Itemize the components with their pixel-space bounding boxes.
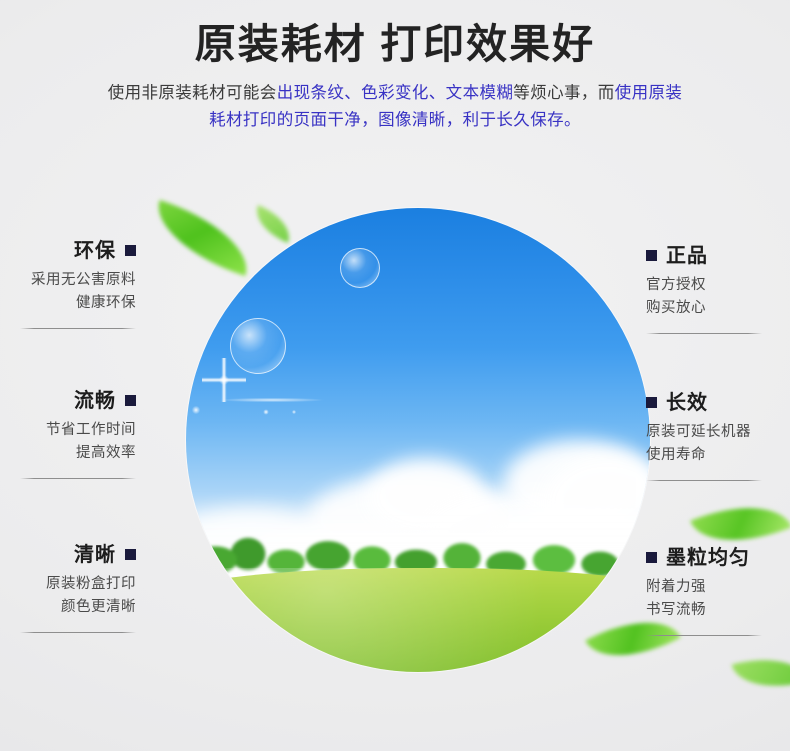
divider (20, 478, 136, 479)
feature-desc-line-1: 原装粉盒打印 (0, 573, 136, 596)
feature-desc-line-2: 使用寿命 (646, 444, 790, 467)
grass-field (186, 568, 650, 672)
feature-desc-line-1: 原装可延长机器 (646, 421, 790, 444)
page-title: 原装耗材 打印效果好 (0, 0, 790, 70)
feature-heading-text: 清晰 (74, 544, 116, 566)
feature-heading: 清晰 (0, 542, 136, 568)
bubble-icon (340, 248, 380, 288)
feature-item-molijunyun: 墨粒均匀 附着力强 书写流畅 (624, 545, 790, 636)
feature-desc-line-1: 节省工作时间 (0, 419, 136, 442)
leaf-icon (732, 647, 790, 700)
feature-desc-line-2: 书写流畅 (646, 599, 790, 622)
feature-item-liuchang: 流畅 节省工作时间 提高效率 (0, 388, 166, 479)
square-bullet-icon (125, 395, 136, 406)
subtitle-line-2: 耗材打印的页面干净，图像清晰，利于长久保存。 (45, 107, 745, 134)
feature-heading: 长效 (646, 390, 790, 416)
divider (646, 480, 762, 481)
feature-heading-text: 墨粒均匀 (666, 547, 750, 569)
feature-heading: 墨粒均匀 (646, 545, 790, 571)
feature-desc-line-2: 颜色更清晰 (0, 596, 136, 619)
feature-desc-line-1: 官方授权 (646, 274, 790, 297)
square-bullet-icon (646, 250, 657, 261)
feature-description: 节省工作时间 提高效率 (0, 414, 136, 465)
divider (646, 333, 762, 334)
feature-description: 原装粉盒打印 颜色更清晰 (0, 568, 136, 619)
feature-item-zhengpin: 正品 官方授权 购买放心 (624, 243, 790, 334)
square-bullet-icon (646, 552, 657, 563)
bubble-icon (230, 318, 286, 374)
feature-description: 官方授权 购买放心 (646, 269, 790, 320)
feature-description: 采用无公害原料 健康环保 (0, 264, 136, 315)
nature-photo-circle (186, 208, 650, 672)
subtitle-segment-plain-2: 等烦心事，而 (513, 84, 614, 102)
feature-heading-text: 正品 (666, 245, 708, 267)
subtitle-segment-highlight-2: 使用原装 (615, 84, 683, 102)
lens-flare (186, 390, 352, 424)
feature-heading-text: 环保 (74, 240, 116, 262)
feature-heading-text: 流畅 (74, 390, 116, 412)
feature-desc-line-1: 附着力强 (646, 576, 790, 599)
feature-heading: 流畅 (0, 388, 136, 414)
divider (646, 635, 762, 636)
feature-heading: 环保 (0, 238, 136, 264)
promo-page: 原装耗材 打印效果好 使用非原装耗材可能会出现条纹、色彩变化、文本模糊等烦心事，… (0, 0, 790, 751)
feature-description: 附着力强 书写流畅 (646, 571, 790, 622)
feature-item-huanbao: 环保 采用无公害原料 健康环保 (0, 238, 166, 329)
header: 原装耗材 打印效果好 使用非原装耗材可能会出现条纹、色彩变化、文本模糊等烦心事，… (0, 0, 790, 134)
feature-item-qingxi: 清晰 原装粉盒打印 颜色更清晰 (0, 542, 166, 633)
feature-item-changxiao: 长效 原装可延长机器 使用寿命 (624, 390, 790, 481)
divider (20, 632, 136, 633)
feature-desc-line-2: 提高效率 (0, 442, 136, 465)
square-bullet-icon (646, 397, 657, 408)
subtitle-segment-plain-1: 使用非原装耗材可能会 (108, 84, 277, 102)
feature-heading-text: 长效 (666, 392, 708, 414)
divider (20, 328, 136, 329)
feature-desc-line-1: 采用无公害原料 (0, 269, 136, 292)
feature-desc-line-2: 健康环保 (0, 292, 136, 315)
page-subtitle: 使用非原装耗材可能会出现条纹、色彩变化、文本模糊等烦心事，而使用原装 耗材打印的… (45, 70, 745, 134)
feature-description: 原装可延长机器 使用寿命 (646, 416, 790, 467)
subtitle-segment-highlight-1: 出现条纹、色彩变化、文本模糊 (277, 84, 514, 102)
feature-desc-line-2: 购买放心 (646, 297, 790, 320)
feature-heading: 正品 (646, 243, 790, 269)
square-bullet-icon (125, 245, 136, 256)
square-bullet-icon (125, 549, 136, 560)
